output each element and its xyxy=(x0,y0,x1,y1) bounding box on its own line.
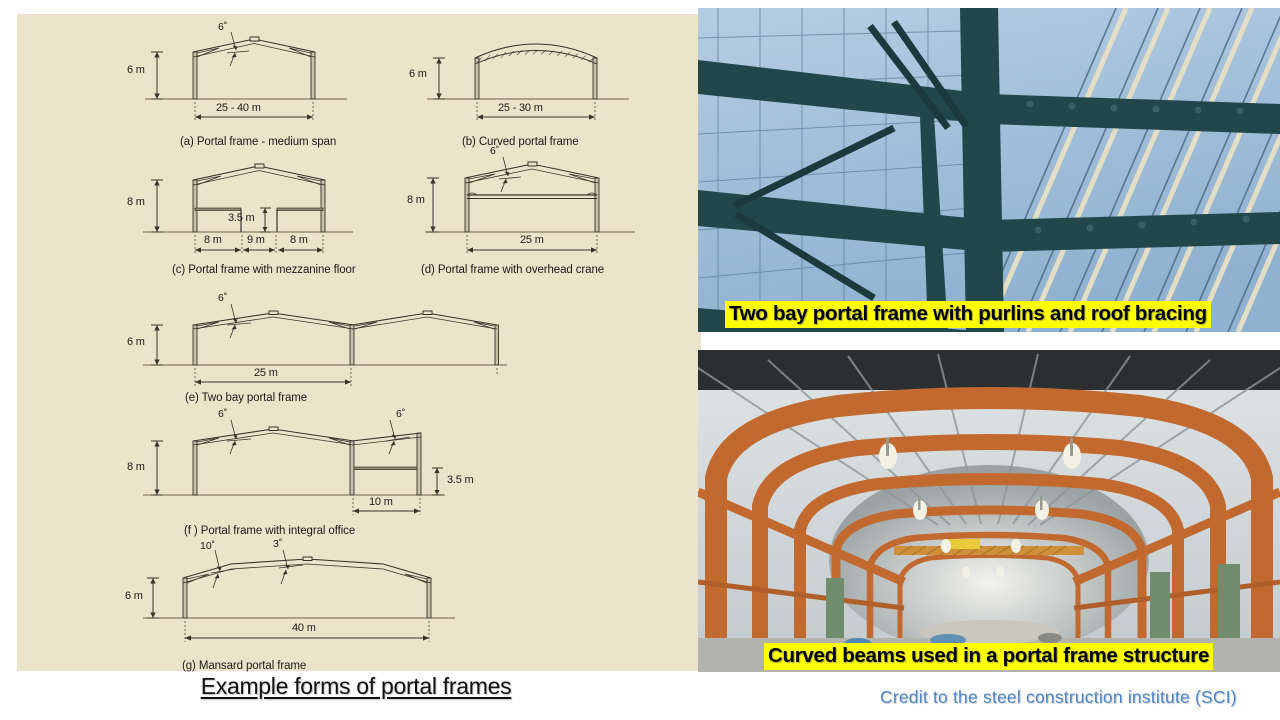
diagram-a-angle-label: 6˚ xyxy=(218,21,227,33)
photo-top-illustration xyxy=(698,8,1280,332)
photo-bottom-illustration xyxy=(698,350,1280,672)
diagram-f-office-height-label: 3.5 m xyxy=(447,474,474,486)
page-title: Example forms of portal frames xyxy=(176,673,536,700)
diagram-d-caption: (d) Portal frame with overhead crane xyxy=(421,264,604,276)
diagram-c-caption: (c) Portal frame with mezzanine floor xyxy=(172,264,356,276)
diagram-a-portal-frame-medium-span: 6 m 25 - 40 m 6˚ xyxy=(135,26,355,141)
diagram-c-bay-label-1: 8 m xyxy=(204,234,222,246)
diagram-f-height-label: 8 m xyxy=(127,461,145,473)
diagram-c-height-label: 8 m xyxy=(127,196,145,208)
diagram-d-span-label: 25 m xyxy=(520,234,544,246)
diagram-e-span-label: 25 m xyxy=(254,367,278,379)
diagram-c-bay-label-2: 9 m xyxy=(247,234,265,246)
diagram-b-drawing xyxy=(417,26,637,141)
portal-frames-figure-panel: 6 m 25 - 40 m 6˚ (a) Portal frame - medi… xyxy=(17,14,701,671)
diagram-a-span-label: 25 - 40 m xyxy=(216,102,261,114)
diagram-a-drawing xyxy=(135,26,355,141)
diagram-e-caption: (e) Two bay portal frame xyxy=(185,392,307,404)
diagram-g-drawing xyxy=(135,542,465,657)
diagram-f-office-span-label: 10 m xyxy=(369,496,393,508)
diagram-e-height-label: 6 m xyxy=(127,336,145,348)
diagram-f-portal-frame-with-integral-office: 8 m 3.5 m 10 m 6˚ 6˚ xyxy=(135,410,515,525)
photo-top-caption: Two bay portal frame with purlins and ro… xyxy=(725,301,1211,328)
diagram-f-caption: (f ) Portal frame with integral office xyxy=(184,525,355,537)
diagram-b-caption: (b) Curved portal frame xyxy=(462,136,579,148)
diagram-a-height-label: 6 m xyxy=(127,64,145,76)
diagram-g-caption: (g) Mansard portal frame xyxy=(182,660,306,672)
diagram-f-drawing xyxy=(135,410,515,525)
diagram-g-angle-label-eave: 10˚ xyxy=(200,540,215,552)
diagram-g-span-label: 40 m xyxy=(292,622,316,634)
diagram-d-height-label: 8 m xyxy=(407,194,425,206)
photo-steel-roof-structure: Two bay portal frame with purlins and ro… xyxy=(698,8,1280,332)
photo-curved-beams-interior: Curved beams used in a portal frame stru… xyxy=(698,350,1280,672)
diagram-g-mansard-portal-frame: 6 m 40 m 10˚ 3˚ xyxy=(135,542,465,657)
credit-text: Credit to the steel construction institu… xyxy=(880,687,1237,708)
diagram-c-drawing xyxy=(135,154,365,264)
diagram-b-height-label: 6 m xyxy=(409,68,427,80)
diagram-e-drawing xyxy=(135,299,515,394)
diagram-b-curved-portal-frame: 6 m 25 - 30 m xyxy=(417,26,637,141)
diagram-e-two-bay-portal-frame: 6 m 25 m 6˚ xyxy=(135,299,515,394)
diagram-c-mezzanine-label: 3.5 m xyxy=(228,212,255,224)
diagram-c-bay-label-3: 8 m xyxy=(290,234,308,246)
diagram-a-caption: (a) Portal frame - medium span xyxy=(180,136,336,148)
diagram-d-angle-label: 6˚ xyxy=(490,145,499,157)
diagram-f-angle-label-left: 6˚ xyxy=(218,408,227,420)
diagram-g-angle-label-apex: 3˚ xyxy=(273,538,282,550)
diagram-d-portal-frame-with-overhead-crane: 8 m 25 m 6˚ xyxy=(417,154,647,264)
diagram-c-portal-frame-with-mezzanine-floor: 8 m 3.5 m 8 m 9 m 8 m xyxy=(135,154,365,264)
diagram-f-angle-label-right: 6˚ xyxy=(396,408,405,420)
diagram-e-angle-label: 6˚ xyxy=(218,292,227,304)
diagram-b-span-label: 25 - 30 m xyxy=(498,102,543,114)
diagram-d-drawing xyxy=(417,154,647,264)
diagram-g-height-label: 6 m xyxy=(125,590,143,602)
photo-bottom-caption: Curved beams used in a portal frame stru… xyxy=(764,643,1213,670)
